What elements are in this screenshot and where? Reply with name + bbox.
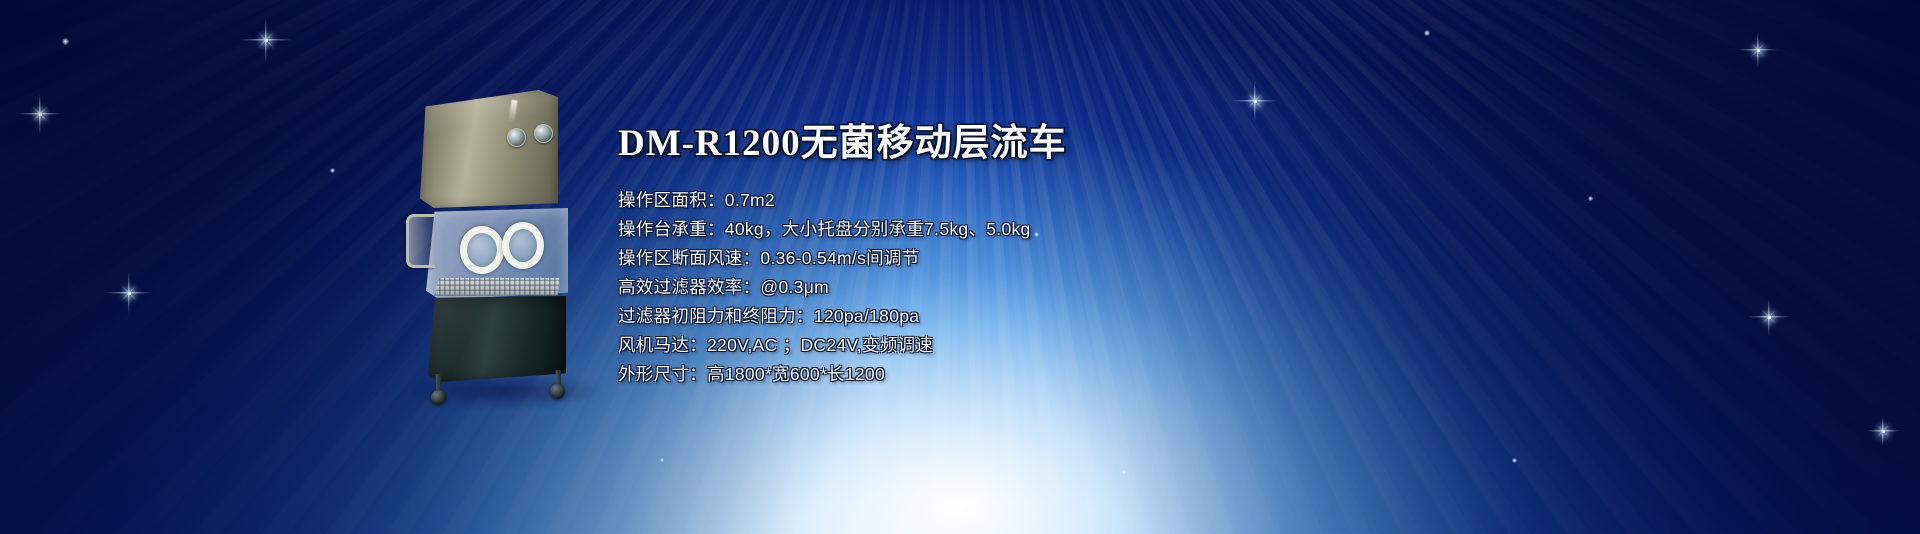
spec-list: 操作区面积：0.7m2 操作台承重：40kg，大小托盘分别承重7.5kg、5.0… [618,186,1318,389]
spec-item-load: 操作台承重：40kg，大小托盘分别承重7.5kg、5.0kg [618,215,1318,244]
caster-wheel [550,384,565,399]
spec-item-area: 操作区面积：0.7m2 [618,186,1318,215]
spec-item-resistance: 过滤器初阻力和终阻力：120pa/180pa [618,302,1318,331]
spec-item-dimensions: 外形尺寸：高1800*宽600*长1200 [618,360,1318,389]
copy-block: DM-R1200无菌移动层流车 操作区面积：0.7m2 操作台承重：40kg，大… [618,112,1318,389]
perforated-work-deck [434,278,560,296]
lower-cabinet-sheen [428,296,566,382]
cabinet-sheen [420,90,558,208]
product-image [398,82,618,402]
side-handle [406,214,435,268]
glove-port [460,226,504,274]
spec-item-hepa: 高效过滤器效率：@0.3μm [618,273,1318,302]
product-title: DM-R1200无菌移动层流车 [618,112,1318,166]
glove-port [502,222,544,269]
product-banner: DM-R1200无菌移动层流车 操作区面积：0.7m2 操作台承重：40kg，大… [0,0,1920,534]
spec-item-motor: 风机马达：220V,AC ；DC24V,变频调速 [618,331,1318,360]
pressure-gauge [507,128,526,147]
caster-wheel [431,390,446,405]
spec-item-airspeed: 操作区断面风速：0.36-0.54m/s间调节 [618,244,1318,273]
pressure-gauge [534,124,553,143]
